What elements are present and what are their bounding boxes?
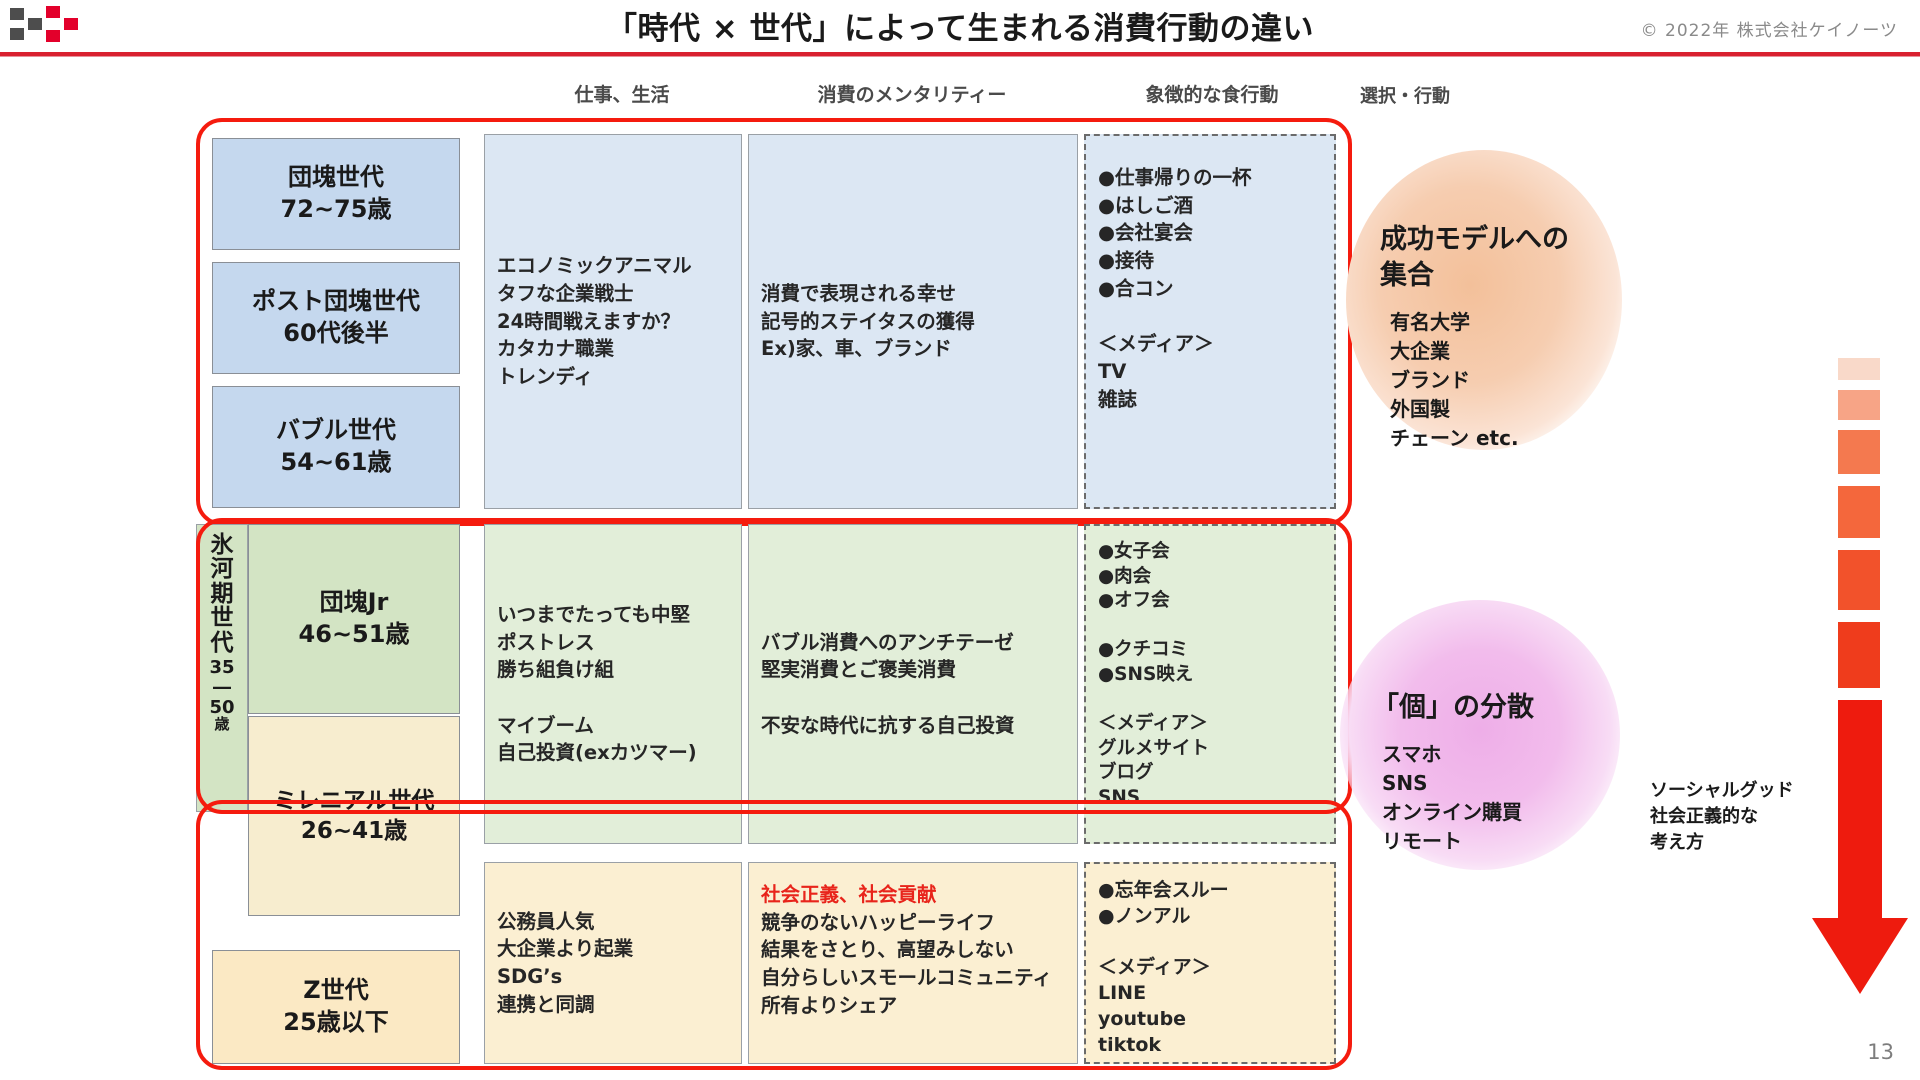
orange-blob-text: 成功モデルへの 集合 有名大学 大企業 ブランド 外国製 チェーン etc. (1380, 222, 1630, 452)
column-header-work-life: 仕事、生活 (492, 80, 752, 107)
generation-age: 25歳以下 (283, 1007, 388, 1039)
cell-senior-mentality: 消費で表現される幸せ 記号的ステイタスの獲得 Ex)家、車、ブランド (748, 134, 1078, 509)
gradient-segment (1838, 622, 1880, 688)
cell-young-work-life: 公務員人気 大企業より起業 SDG’s 連携と同調 (484, 862, 742, 1064)
generation-chip-millennial: ミレニアル世代 26~41歳 (248, 716, 460, 916)
generation-name: バブル世代 (276, 415, 396, 447)
generation-chip-post-dankai: ポスト団塊世代 60代後半 (212, 262, 460, 374)
down-arrow (1812, 700, 1908, 1000)
generation-name: Z世代 (283, 975, 388, 1007)
vrail-age-dash: ― (213, 679, 231, 697)
copyright-notice: © 2022年 株式会社ケイノーツ (1641, 16, 1898, 41)
generation-chip-dankai: 団塊世代 72~75歳 (212, 138, 460, 250)
vrail-char: 氷 (211, 533, 234, 557)
generation-name: ミレニアル世代 (274, 786, 435, 816)
generation-chip-dankai-jr: 団塊Jr 46~51歳 (248, 524, 460, 714)
page-title: 「時代 × 世代」によって生まれる消費行動の違い (0, 3, 1920, 48)
header-divider-thin (0, 56, 1920, 57)
generation-name: 団塊Jr (299, 587, 410, 619)
gradient-segment (1838, 430, 1880, 474)
generation-chip-gen-z: Z世代 25歳以下 (212, 950, 460, 1064)
vertical-label-ice-age-generation: 氷 河 期 世 代 35 ― 50 歳 (196, 524, 248, 812)
cell-young-mentality-body: 競争のないハッピーライフ 結果をさとり、高望みしない 自分らしいスモールコミュニ… (761, 909, 1052, 1020)
cell-senior-food-behavior: ●仕事帰りの一杯 ●はしご酒 ●会社宴会 ●接待 ●合コン ＜メディア＞ TV … (1084, 134, 1336, 509)
cell-middle-work-life: いつまでたっても中堅 ポストレス 勝ち組負け組 マイブーム 自己投資(exカツマ… (484, 524, 742, 844)
orange-blob-headline: 成功モデルへの 集合 (1380, 222, 1630, 294)
slide-canvas: 「時代 × 世代」によって生まれる消費行動の違い © 2022年 株式会社ケイノ… (0, 0, 1920, 1080)
vrail-char: 河 (211, 557, 234, 581)
column-header-mentality: 消費のメンタリティー (742, 80, 1082, 107)
cell-young-mentality: 社会正義、社会貢献 競争のないハッピーライフ 結果をさとり、高望みしない 自分ら… (748, 862, 1078, 1064)
cell-young-mentality-highlight: 社会正義、社会貢献 (761, 881, 937, 909)
generation-name: 団塊世代 (281, 162, 392, 194)
generation-age: 26~41歳 (274, 816, 435, 846)
gradient-segment (1838, 390, 1880, 420)
vrail-char: 期 (211, 582, 234, 606)
cell-middle-food-behavior: ●女子会 ●肉会 ●オフ会 ●クチコミ ●SNS映え ＜メディア＞ グルメサイト… (1084, 524, 1336, 844)
cell-young-food-behavior: ●忘年会スルー ●ノンアル ＜メディア＞ LINE youtube tiktok (1084, 862, 1336, 1064)
generation-name: ポスト団塊世代 (252, 286, 420, 318)
vrail-age-unit: 歳 (214, 717, 229, 732)
generation-chip-bubble: バブル世代 54~61歳 (212, 386, 460, 508)
pink-blob-text: 「個」の分散 スマホ SNS オンライン購買 リモート (1372, 690, 1622, 855)
vrail-char: 世 (211, 606, 234, 630)
generation-age: 54~61歳 (276, 447, 396, 479)
page-number: 13 (1867, 1040, 1894, 1064)
pink-blob-items: スマホ SNS オンライン購買 リモート (1382, 740, 1622, 855)
generation-age: 46~51歳 (299, 619, 410, 651)
gradient-segment (1838, 358, 1880, 380)
cell-senior-work-life: エコノミックアニマル タフな企業戦士 24時間戦えますか？ カタカナ職業 トレン… (484, 134, 742, 509)
column-header-choice-action: 選択・行動 (1360, 82, 1600, 108)
orange-blob-items: 有名大学 大企業 ブランド 外国製 チェーン etc. (1390, 308, 1630, 452)
cell-middle-mentality: バブル消費へのアンチテーゼ 堅実消費とご褒美消費 不安な時代に抗する自己投資 (748, 524, 1078, 844)
slide-header: 「時代 × 世代」によって生まれる消費行動の違い © 2022年 株式会社ケイノ… (0, 0, 1920, 54)
gradient-segment (1838, 486, 1880, 538)
vrail-char: 代 (211, 631, 234, 655)
vrail-age-top: 35 (209, 659, 234, 677)
column-header-food-behavior: 象徴的な食行動 (1082, 80, 1342, 107)
generation-age: 72~75歳 (281, 194, 392, 226)
gradient-segment (1838, 550, 1880, 610)
generation-age: 60代後半 (252, 318, 420, 350)
pink-blob-headline: 「個」の分散 (1372, 690, 1622, 726)
